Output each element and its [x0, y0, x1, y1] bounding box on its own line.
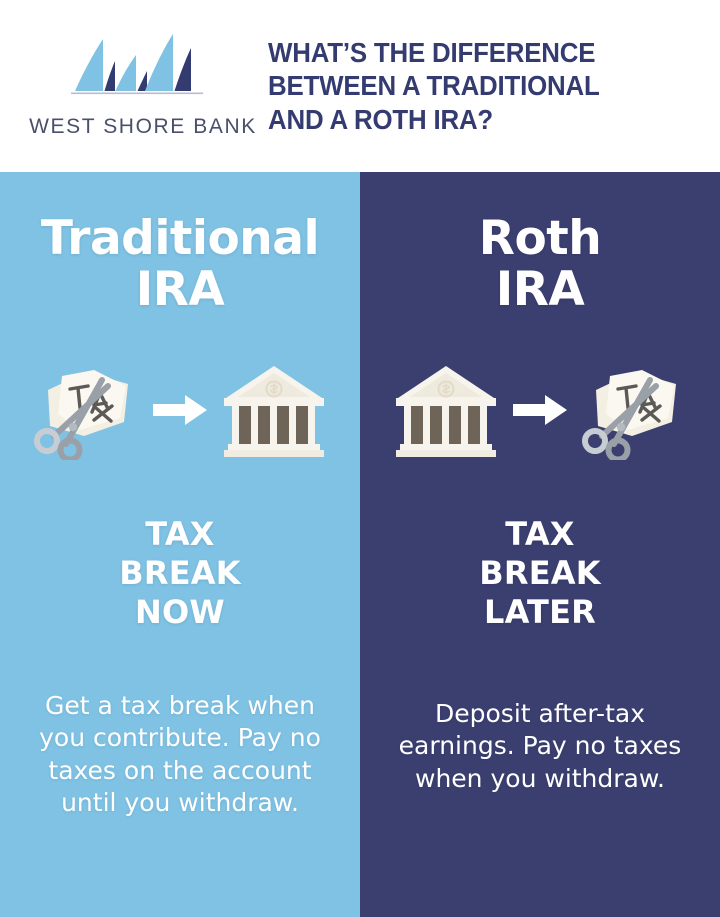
traditional-break-line-3: NOW: [119, 593, 240, 632]
page-title: WHAT’S THE DIFFERENCE BETWEEN A TRADITIO…: [268, 36, 693, 137]
traditional-break-line-2: BREAK: [119, 554, 240, 593]
roth-body-line-4: you withdraw.: [490, 764, 665, 793]
roth-break-line-2: BREAK: [479, 554, 600, 593]
traditional-body-line-6: you withdraw.: [124, 788, 299, 817]
traditional-body-line-3: contribute. Pay: [93, 723, 282, 752]
traditional-icon-row: [30, 358, 330, 463]
traditional-heading-line-2: IRA: [41, 265, 319, 316]
bank-building-icon: [219, 358, 330, 463]
roth-break-line-1: TAX: [479, 515, 600, 554]
arrow-right-icon: [147, 390, 213, 430]
traditional-break-text: TAX BREAK NOW: [119, 515, 240, 632]
title-line-2: BETWEEN A TRADITIONAL: [268, 69, 676, 103]
panel-roth-ira: Roth IRA: [360, 172, 720, 917]
comparison-panels: Traditional IRA: [0, 172, 720, 917]
roth-heading: Roth IRA: [479, 214, 601, 316]
bank-building-icon: [390, 358, 501, 463]
logo-wordmark: WEST SHORE BANK: [29, 115, 257, 139]
roth-break-line-3: LATER: [479, 593, 600, 632]
traditional-break-line-1: TAX: [119, 515, 240, 554]
ira-comparison-infographic: WEST SHORE BANK WHAT’S THE DIFFERENCE BE…: [0, 0, 720, 917]
roth-break-text: TAX BREAK LATER: [479, 515, 600, 632]
sailboat-logo-icon: [63, 33, 223, 111]
brand-logo: WEST SHORE BANK: [18, 33, 268, 139]
roth-body-line-1: Deposit after-tax: [435, 699, 645, 728]
roth-icon-row: [390, 358, 690, 463]
header-bar: WEST SHORE BANK WHAT’S THE DIFFERENCE BE…: [0, 0, 720, 172]
roth-heading-line-1: Roth: [479, 214, 601, 265]
title-line-1: WHAT’S THE DIFFERENCE: [268, 36, 676, 70]
traditional-body-text: Get a tax break when you contribute. Pay…: [38, 690, 323, 820]
roth-heading-line-2: IRA: [479, 265, 601, 316]
traditional-heading-line-1: Traditional: [41, 214, 319, 265]
tax-paper-scissors-icon: [579, 358, 690, 463]
traditional-body-line-1: Get a tax: [45, 691, 161, 720]
traditional-heading: Traditional IRA: [41, 214, 319, 316]
roth-body-text: Deposit after-tax earnings. Pay no taxes…: [398, 698, 683, 796]
arrow-right-icon: [507, 390, 573, 430]
title-line-3: AND A ROTH IRA?: [268, 103, 676, 137]
tax-paper-scissors-icon: [30, 358, 141, 463]
roth-body-line-2: earnings. Pay no: [399, 731, 606, 760]
panel-traditional-ira: Traditional IRA: [0, 172, 360, 917]
